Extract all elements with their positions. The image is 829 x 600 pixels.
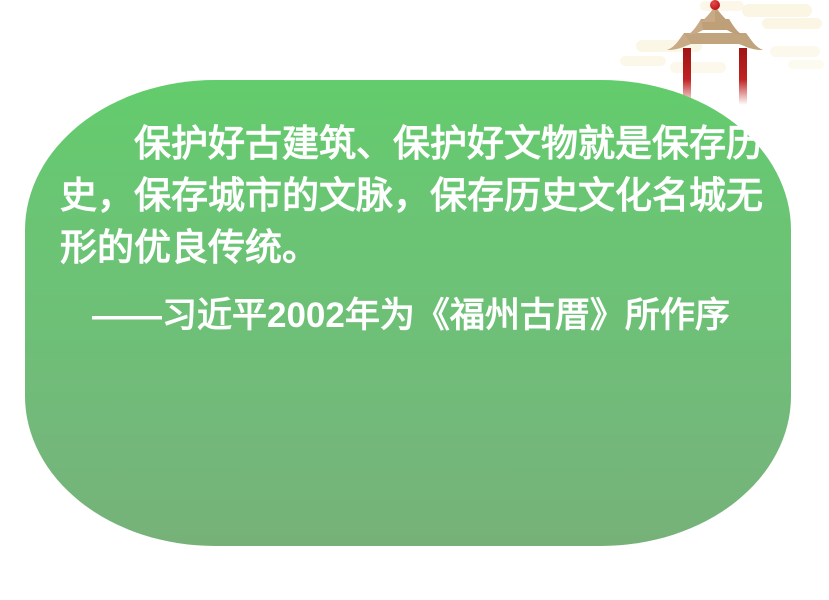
cloud-motif-icon (788, 60, 824, 69)
quote-line-3: 形的优良传统。 (60, 222, 760, 274)
quote-attribution: ——习近平2002年为《福州古厝》所作序 (60, 290, 760, 342)
pagoda-icon (651, 0, 781, 105)
pagoda-finial-icon (710, 0, 720, 10)
slide-canvas: 保护好古建筑、保护好文物就是保存历 史，保存城市的文脉，保存历史文化名城无 形的… (0, 0, 829, 600)
quote-line-1: 保护好古建筑、保护好文物就是保存历 (60, 118, 760, 170)
quote-line-2: 史，保存城市的文脉，保存历史文化名城无 (60, 170, 760, 222)
pagoda-pillar-right (739, 48, 747, 105)
quote-block: 保护好古建筑、保护好文物就是保存历 史，保存城市的文脉，保存历史文化名城无 形的… (60, 118, 760, 342)
pagoda-roof-lower-shade (684, 33, 763, 50)
